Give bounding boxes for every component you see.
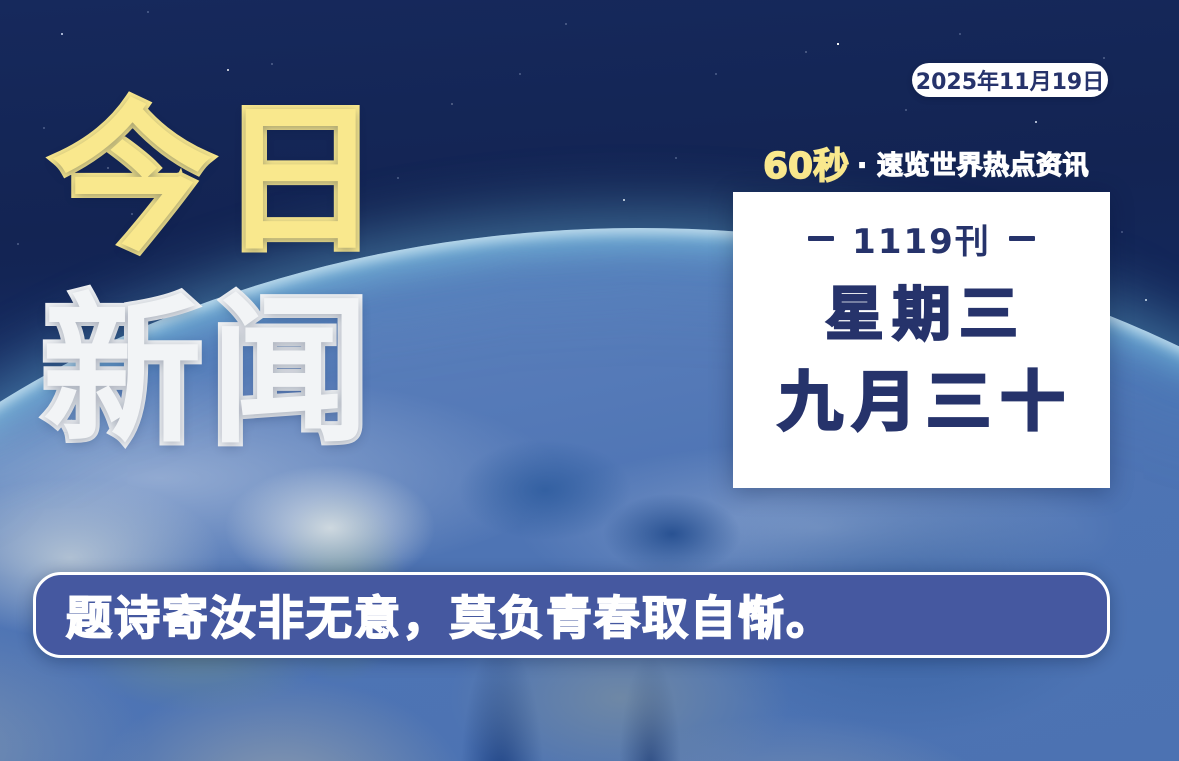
tagline-highlight: 60秒 bbox=[763, 137, 849, 189]
quote-banner: 题诗寄汝非无意，莫负青春取自惭。 bbox=[33, 572, 1110, 658]
issue-number-row: 1119刊 bbox=[808, 214, 1035, 263]
issue-number: 1119刊 bbox=[852, 214, 991, 263]
tagline-rest: · 速览世界热点资讯 bbox=[857, 145, 1089, 182]
quote-text: 题诗寄汝非无意，莫负青春取自惭。 bbox=[66, 582, 834, 648]
weekday-label: 星期三 bbox=[816, 283, 1026, 346]
headline-line-2: 新闻 bbox=[42, 292, 378, 452]
date-card: 1119刊 星期三 九月三十 bbox=[733, 192, 1110, 488]
tagline: 60秒 · 速览世界热点资讯 bbox=[741, 141, 1111, 185]
news-poster: 今日 新闻 2025年11月19日 60秒 · 速览世界热点资讯 1119刊 星… bbox=[0, 0, 1179, 761]
headline-line-1: 今日 bbox=[52, 100, 388, 260]
date-badge: 2025年11月19日 bbox=[912, 63, 1108, 97]
lunar-date-label: 九月三十 bbox=[769, 370, 1075, 437]
dash-right-icon bbox=[1009, 236, 1035, 241]
dash-left-icon bbox=[808, 236, 834, 241]
